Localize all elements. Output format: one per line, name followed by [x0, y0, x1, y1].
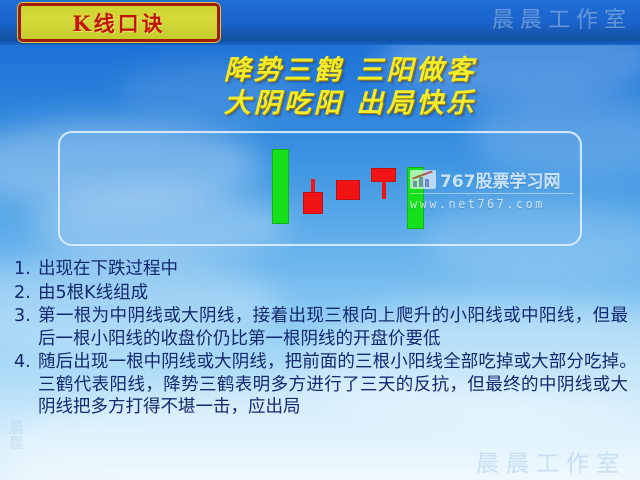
candlestick-chart-panel: 767股票学习网 www.net767.com [58, 131, 582, 246]
headline-line-1: 降势三鹤 三阳做客 [150, 54, 550, 87]
site-watermark: 767股票学习网 www.net767.com [410, 167, 574, 217]
list-item-text: 出现在下跌过程中 [38, 258, 628, 281]
site-url: www.net767.com [410, 197, 574, 211]
list-item-number: 1. [14, 258, 38, 281]
chart-logo-icon [410, 170, 436, 189]
logo-bar [419, 177, 423, 187]
site-name: 767股票学习网 [440, 167, 561, 192]
page-title: K线口诀 [72, 8, 165, 38]
list-item-text: 第一根为中阴线或大阴线，接着出现三根向上爬升的小阳线或中阳线，但最后一根小阳线的… [38, 305, 628, 350]
list-item-number: 3. [14, 305, 38, 328]
candle-1 [272, 133, 289, 244]
list-item: 4. 随后出现一根中阴线或大阴线，把前面的三根小阳线全部吃掉或大部分吃掉。 三鹤… [14, 351, 628, 419]
headline-line-2: 大阴吃阳 出局快乐 [150, 87, 550, 120]
title-plate: K线口诀 [18, 3, 220, 42]
candle-1-body [272, 149, 289, 224]
candle-4-wick [382, 177, 386, 199]
list-item: 1. 出现在下跌过程中 [14, 258, 628, 281]
headline-verse: 降势三鹤 三阳做客 大阴吃阳 出局快乐 [150, 54, 550, 120]
list-item-text: 由5根K线组成 [38, 282, 628, 305]
list-item-number: 4. [14, 351, 38, 374]
candle-3 [336, 133, 360, 244]
logo-bar [425, 179, 429, 187]
list-item-number: 2. [14, 282, 38, 305]
list-item-text: 随后出现一根中阴线或大阴线，把前面的三根小阳线全部吃掉或大部分吃掉。 三鹤代表阳… [38, 351, 628, 419]
site-watermark-row: 767股票学习网 [410, 167, 574, 194]
candle-4 [371, 133, 396, 244]
list-item: 2. 由5根K线组成 [14, 282, 628, 305]
slide-canvas: 晨晨工作室 K线口诀 降势三鹤 三阳做客 大阴吃阳 出局快乐 [0, 0, 640, 480]
candle-2 [303, 133, 323, 244]
candle-3-body [336, 180, 360, 200]
studio-watermark-top: 晨晨工作室 [492, 2, 632, 34]
list-item: 3. 第一根为中阴线或大阴线，接着出现三根向上爬升的小阳线或中阳线，但最后一根小… [14, 305, 628, 350]
logo-bar [413, 181, 417, 187]
candle-2-body [303, 192, 323, 214]
studio-watermark-left: 晨晨 [8, 420, 23, 450]
explanation-list: 1. 出现在下跌过程中 2. 由5根K线组成 3. 第一根为中阴线或大阴线，接着… [14, 258, 628, 420]
studio-watermark-bottom: 晨晨工作室 [476, 444, 626, 478]
